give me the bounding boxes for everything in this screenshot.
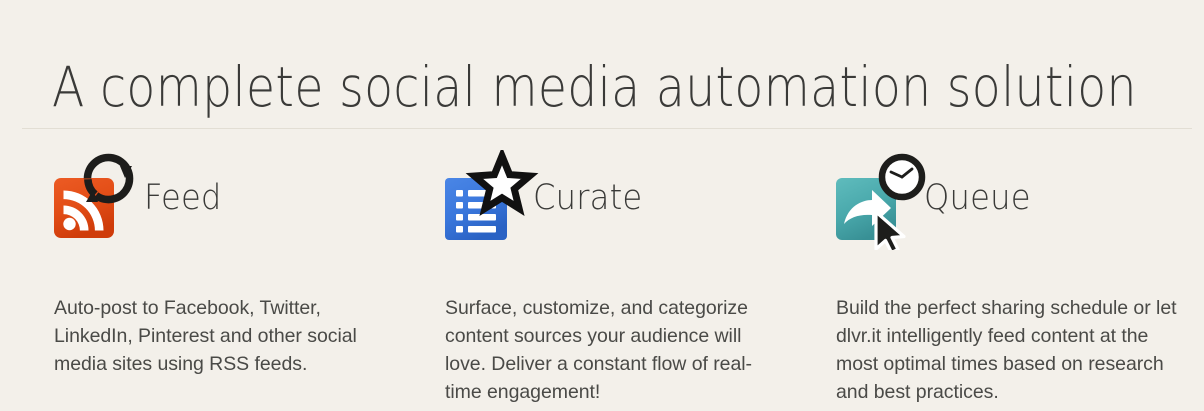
feature-section: A complete social media automation solut… bbox=[0, 0, 1204, 411]
feature-columns: Feed Auto-post to Facebook, Twitter, Lin… bbox=[0, 150, 1204, 410]
feature-header: Feed bbox=[54, 150, 414, 255]
feature-header: Curate bbox=[445, 150, 805, 255]
feature-card-queue: Queue Build the perfect sharing schedule… bbox=[836, 150, 1196, 255]
rss-feed-icon bbox=[54, 150, 150, 250]
feature-title: Feed bbox=[144, 178, 222, 218]
feature-card-feed: Feed Auto-post to Facebook, Twitter, Lin… bbox=[54, 150, 414, 255]
feature-card-curate: Curate Surface, customize, and categoriz… bbox=[445, 150, 805, 255]
feature-description: Surface, customize, and categorize conte… bbox=[445, 294, 775, 406]
feature-header: Queue bbox=[836, 150, 1196, 255]
clock-icon bbox=[882, 157, 922, 197]
section-divider bbox=[22, 128, 1192, 129]
bulleted-list-icon bbox=[445, 150, 541, 250]
feature-description: Auto-post to Facebook, Twitter, LinkedIn… bbox=[54, 294, 384, 378]
page-title: A complete social media automation solut… bbox=[52, 47, 1015, 127]
feature-title: Curate bbox=[533, 178, 642, 218]
feature-description: Build the perfect sharing schedule or le… bbox=[836, 294, 1186, 406]
share-arrow-icon bbox=[836, 150, 932, 250]
feature-title: Queue bbox=[924, 178, 1031, 218]
